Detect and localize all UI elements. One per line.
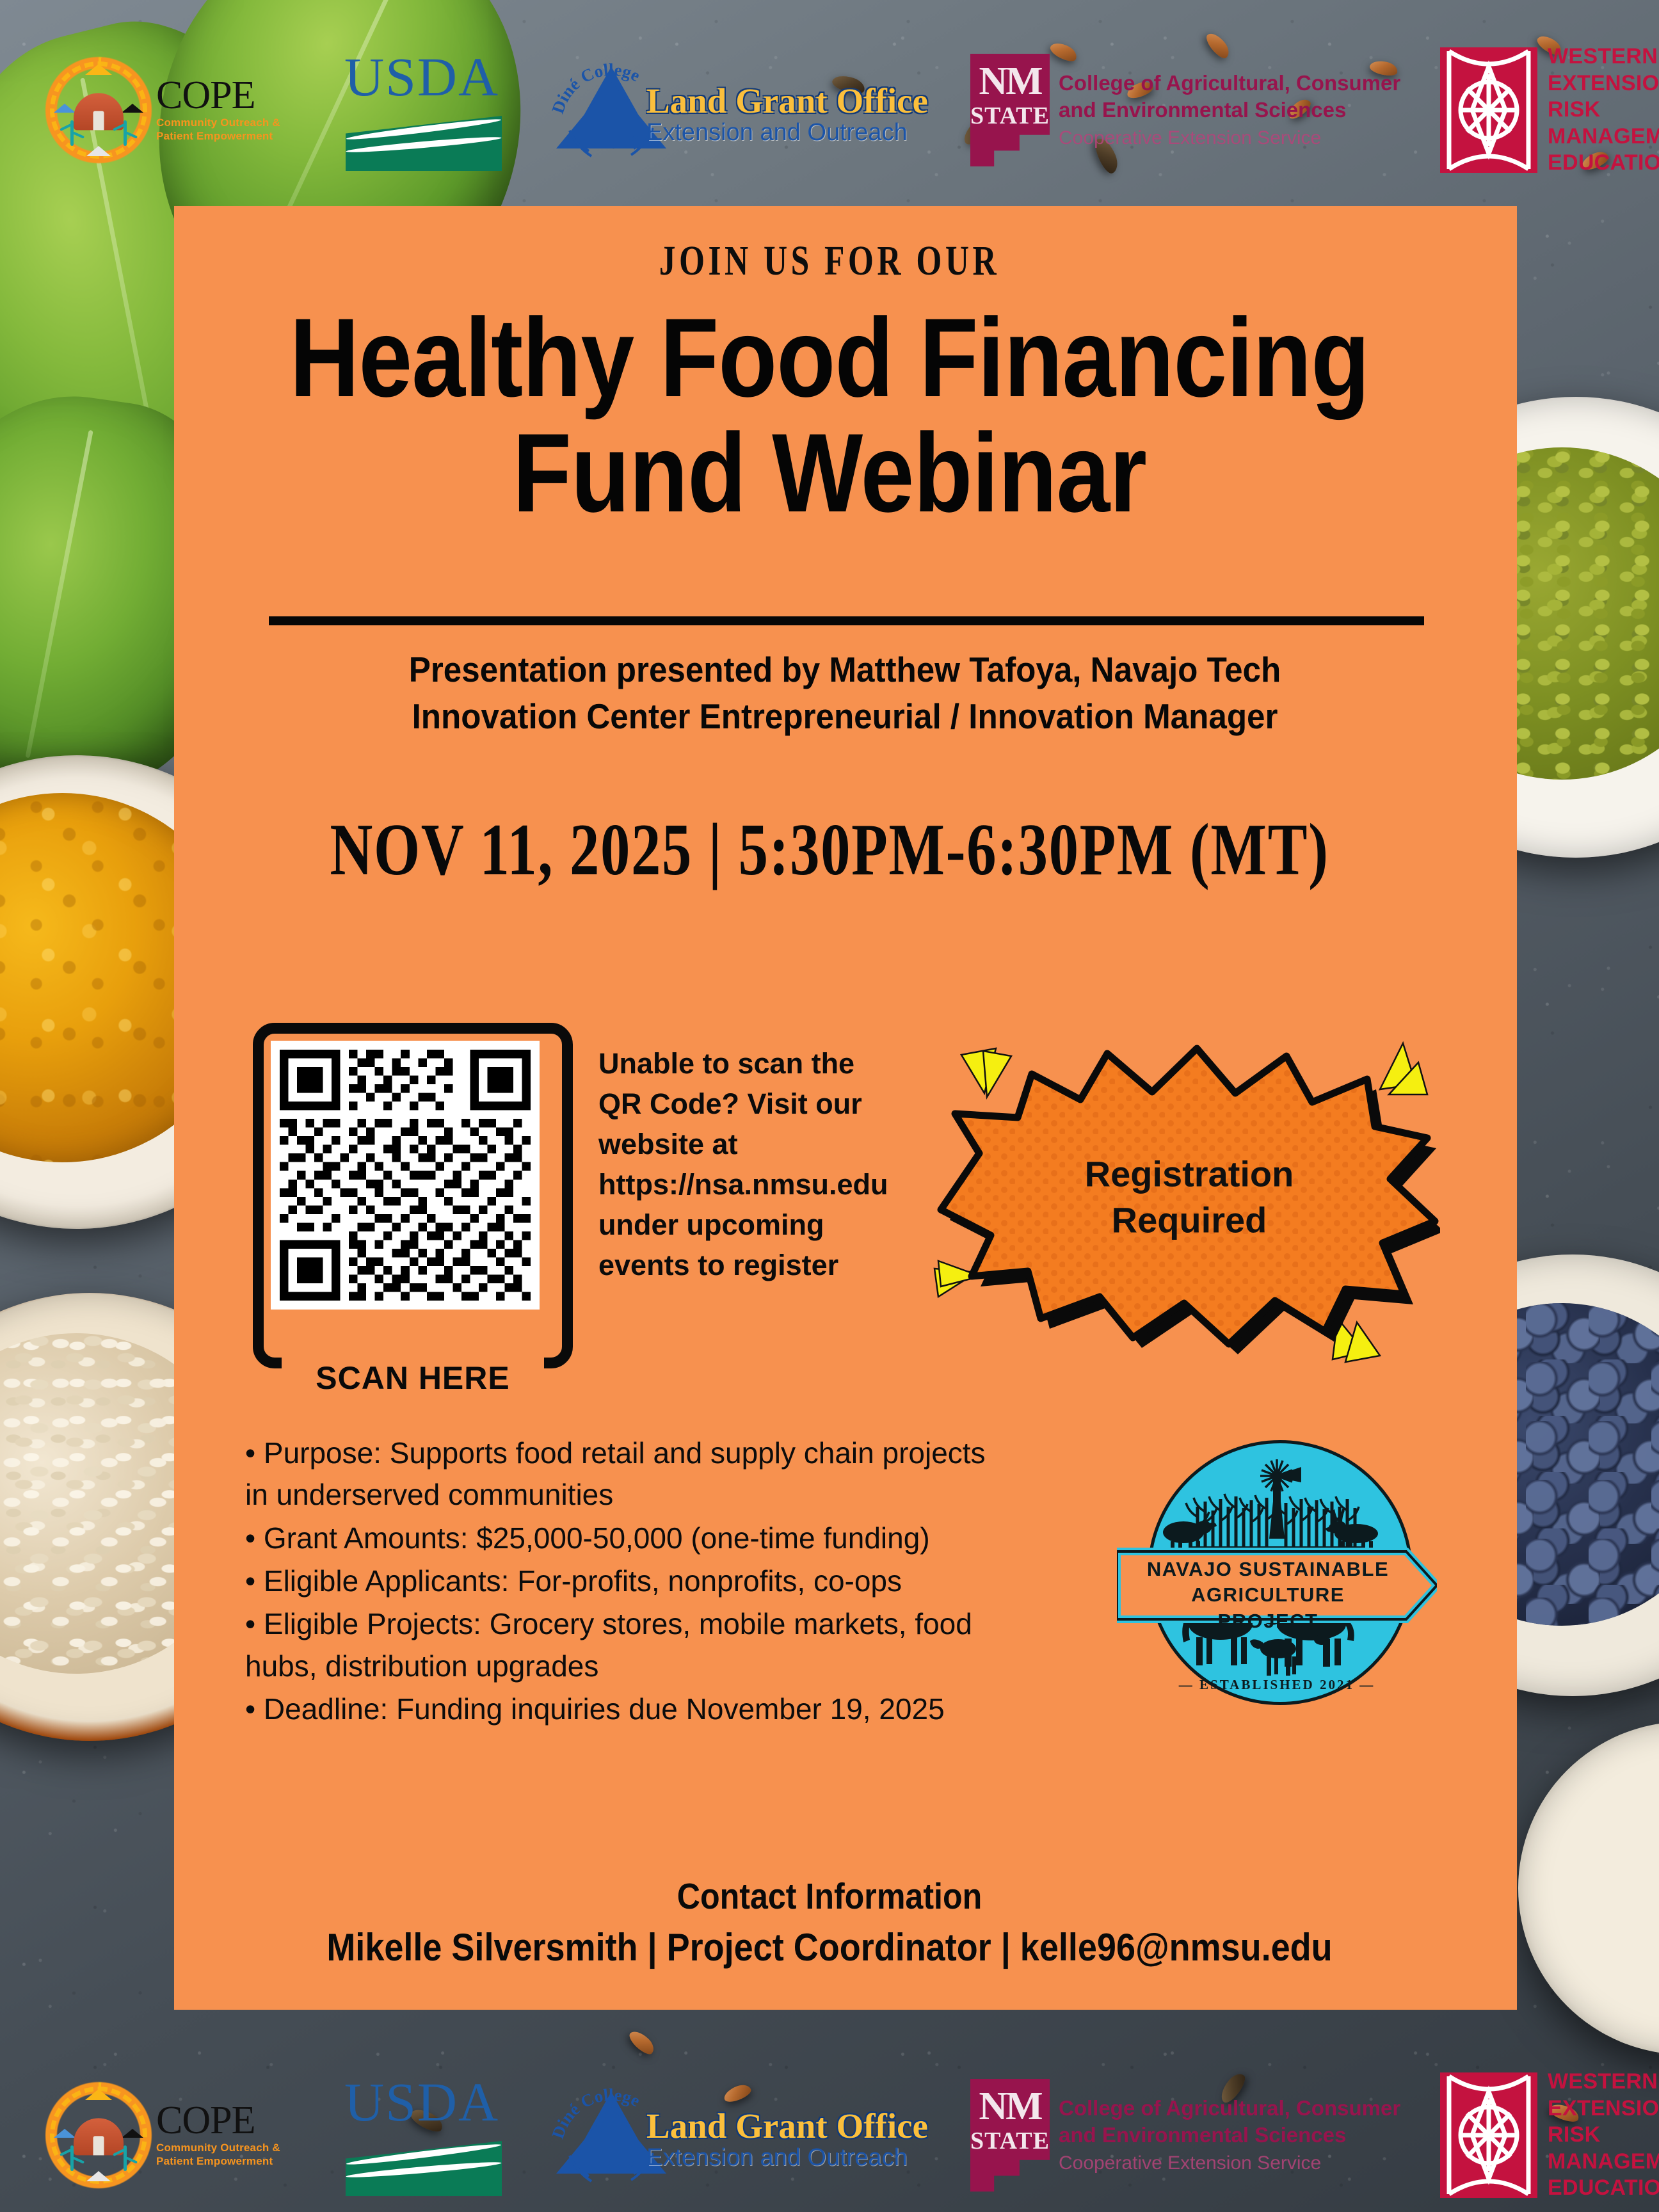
list-item: • Eligible Projects: Grocery stores, mob…: [245, 1603, 1007, 1687]
page-title: Healthy Food Financing Fund Webinar: [116, 301, 1543, 532]
werme-line-4: MANAGEMENT: [1548, 2149, 1659, 2175]
usda-field-icon: [346, 116, 502, 171]
nmsu-state-mark-icon: NM STATE: [970, 2079, 1050, 2192]
flyer-poster: COPE Community Outreach & Patient Empowe…: [0, 0, 1659, 2212]
cope-tagline-2: Patient Empowerment: [156, 130, 280, 143]
badge-line-2: Required: [938, 1197, 1440, 1243]
logo-navajo-sustainable-agriculture-project: NAVAJO SUSTAINABLE AGRICULTURE PROJECT —…: [1117, 1429, 1437, 1749]
nmsu-college-line-1: College of Agricultural, Consumer: [1059, 2095, 1400, 2122]
logo-usda: USDA: [339, 2074, 531, 2196]
logo-dine-college-land-grant: Diné College Land Grant Office Extension…: [550, 46, 947, 174]
werme-line-3: RISK: [1548, 97, 1659, 123]
nmsu-college-line-3: Cooperative Extension Service: [1059, 125, 1400, 150]
nmsu-mark-bottom: STATE: [970, 2129, 1050, 2153]
presenter-line-1: Presentation presented by Matthew Tafoya…: [250, 646, 1440, 693]
nmsu-college-line-2: and Environmental Sciences: [1059, 97, 1400, 124]
qr-instructions: Unable to scan the QR Code? Visit our we…: [598, 1043, 899, 1285]
qr-code-block[interactable]: SCAN HERE: [253, 1023, 573, 1368]
svg-text:Diné College: Diné College: [550, 60, 643, 116]
werme-line-2: EXTENSION: [1548, 2096, 1659, 2122]
nmsu-mark-top: NM: [979, 2087, 1041, 2126]
werme-line-1: WESTERN: [1548, 2069, 1659, 2095]
werme-line-1: WESTERN: [1548, 44, 1659, 70]
title-line-2: Fund Webinar: [116, 416, 1543, 531]
presenter-credit: Presentation presented by Matthew Tafoya…: [250, 646, 1440, 740]
svg-text:Diné College: Diné College: [550, 2085, 643, 2141]
list-item: • Eligible Applicants: For-profits, nonp…: [245, 1560, 1007, 1602]
cope-seal-icon: [45, 2081, 152, 2189]
nsap-name-line-2: AGRICULTURE PROJECT: [1140, 1582, 1396, 1634]
logo-usda: USDA: [339, 49, 531, 171]
presenter-line-2: Innovation Center Entrepreneurial / Inno…: [250, 693, 1440, 740]
usda-acronym: USDA: [339, 49, 531, 104]
nmsu-college-line-2: and Environmental Sciences: [1059, 2122, 1400, 2149]
logo-cope: COPE Community Outreach & Patient Empowe…: [45, 2074, 314, 2196]
registration-required-badge: Registration Required: [915, 1018, 1440, 1376]
logo-werme: WESTERN EXTENSION RISK MANAGEMENT EDUCAT…: [1440, 46, 1659, 174]
land-grant-office-title: Land Grant Office: [646, 2108, 928, 2144]
logo-dine-college-land-grant: Diné College Land Grant Office Extension…: [550, 2071, 947, 2199]
title-divider: [269, 616, 1424, 625]
werme-emblem-icon: [1440, 47, 1537, 173]
usda-field-icon: [346, 2141, 502, 2196]
list-item: • Purpose: Supports food retail and supp…: [245, 1432, 1007, 1516]
scan-here-label: SCAN HERE: [253, 1359, 573, 1397]
eyebrow-text: JOIN US FOR OUR: [182, 237, 1477, 285]
werme-emblem-icon: [1440, 2072, 1537, 2198]
title-line-1: Healthy Food Financing: [116, 301, 1543, 416]
list-item: • Deadline: Funding inquiries due Novemb…: [245, 1688, 1007, 1730]
logo-nmsu-caces: NM STATE College of Agricultural, Consum…: [970, 2071, 1418, 2199]
list-item: • Grant Amounts: $25,000-50,000 (one-tim…: [245, 1518, 1007, 1559]
cope-tagline-1: Community Outreach &: [156, 2142, 280, 2155]
qr-code-image[interactable]: [271, 1041, 540, 1310]
program-details-list: • Purpose: Supports food retail and supp…: [245, 1432, 1007, 1731]
werme-line-5: EDUCATION: [1548, 2175, 1659, 2201]
cope-tagline-2: Patient Empowerment: [156, 2155, 280, 2168]
nmsu-mark-bottom: STATE: [970, 104, 1050, 128]
event-datetime: NOV 11, 2025 | 5:30PM-6:30PM (MT): [166, 808, 1493, 893]
cope-acronym: COPE: [156, 2103, 280, 2139]
badge-line-1: Registration: [938, 1151, 1440, 1197]
nmsu-college-line-3: Cooperative Extension Service: [1059, 2151, 1400, 2176]
werme-line-5: EDUCATION: [1548, 150, 1659, 176]
cope-acronym: COPE: [156, 77, 280, 114]
partner-logo-bar-bottom: COPE Community Outreach & Patient Empowe…: [0, 2053, 1659, 2212]
nmsu-college-line-1: College of Agricultural, Consumer: [1059, 70, 1400, 97]
land-grant-office-subtitle: Extension and Outreach: [646, 120, 928, 147]
contact-heading: Contact Information: [100, 1875, 1560, 1918]
land-grant-office-title: Land Grant Office: [646, 83, 928, 118]
werme-line-2: EXTENSION: [1548, 70, 1659, 97]
land-grant-office-subtitle: Extension and Outreach: [646, 2145, 928, 2172]
cope-tagline-1: Community Outreach &: [156, 116, 280, 130]
nsap-established-text: — ESTABLISHED 2021 —: [1117, 1677, 1437, 1693]
werme-line-3: RISK: [1548, 2122, 1659, 2148]
partner-logo-bar-top: COPE Community Outreach & Patient Empowe…: [0, 28, 1659, 192]
contact-details: Mikelle Silversmith | Project Coordinato…: [83, 1925, 1576, 1969]
cope-seal-icon: [45, 56, 152, 164]
logo-cope: COPE Community Outreach & Patient Empowe…: [45, 49, 314, 171]
nsap-name-line-1: NAVAJO SUSTAINABLE: [1140, 1557, 1396, 1582]
nmsu-mark-top: NM: [979, 61, 1041, 101]
logo-nmsu-caces: NM STATE College of Agricultural, Consum…: [970, 46, 1418, 174]
werme-line-4: MANAGEMENT: [1548, 124, 1659, 150]
logo-werme: WESTERN EXTENSION RISK MANAGEMENT EDUCAT…: [1440, 2071, 1659, 2199]
usda-acronym: USDA: [339, 2074, 531, 2129]
nmsu-state-mark-icon: NM STATE: [970, 54, 1050, 166]
